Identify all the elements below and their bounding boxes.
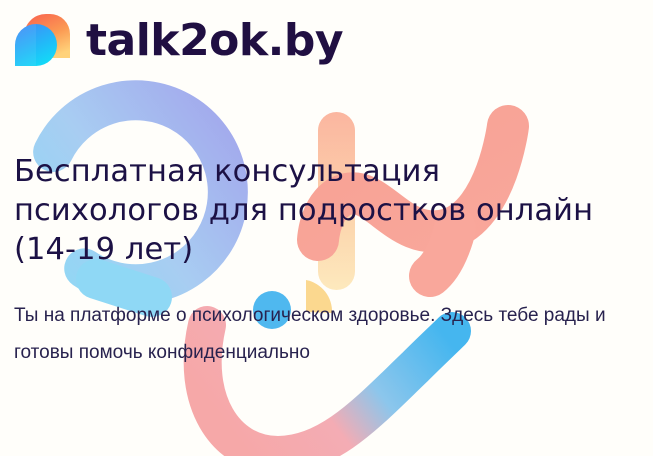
landing-page: talk2ok.by Бесплатная консультация психо… <box>0 0 653 456</box>
talk2ok-logo-icon[interactable] <box>12 10 72 70</box>
page-title: Бесплатная консультация психологов для п… <box>14 152 614 269</box>
hero-content: Бесплатная консультация психологов для п… <box>14 152 614 371</box>
hero-subtext: Ты на платформе о психологическом здоров… <box>14 269 614 371</box>
site-wordmark[interactable]: talk2ok.by <box>86 19 343 63</box>
site-header: talk2ok.by <box>12 10 343 70</box>
